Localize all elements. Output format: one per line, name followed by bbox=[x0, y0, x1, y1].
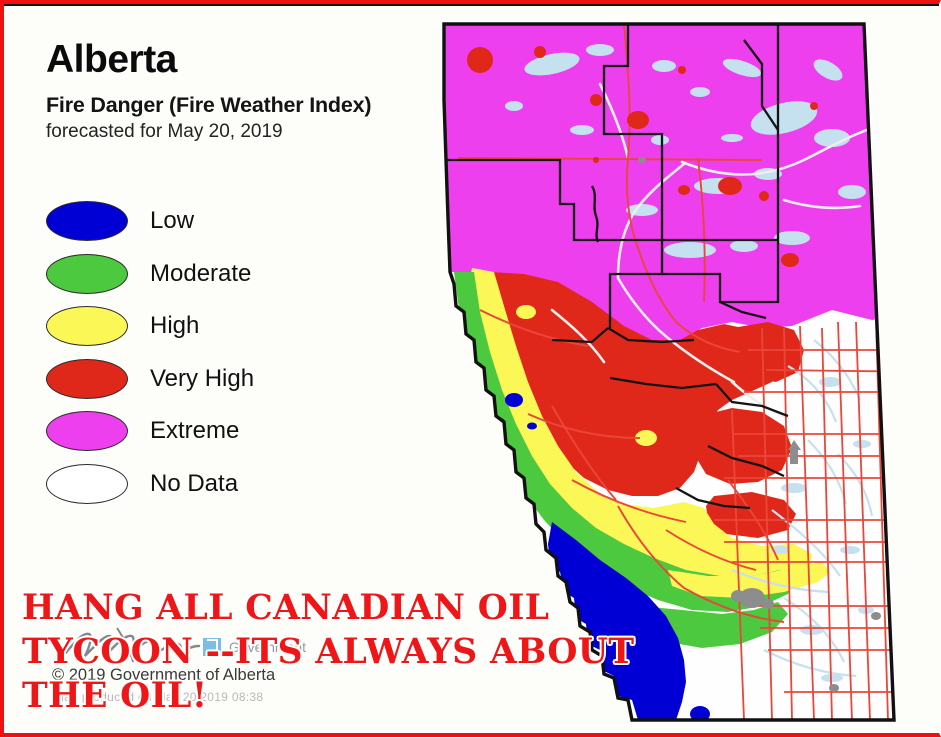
legend-item-no-data: No Data bbox=[46, 458, 254, 511]
alberta-fire-danger-map bbox=[432, 10, 937, 728]
legend-label-no-data: No Data bbox=[150, 470, 238, 498]
legend-item-high: High bbox=[46, 300, 254, 353]
legend-label-moderate: Moderate bbox=[150, 260, 251, 288]
legend-swatch-very-high bbox=[46, 359, 128, 399]
legend-item-very-high: Very High bbox=[46, 353, 254, 406]
map-produced-text: Map produced on May 20 2019 08:38 bbox=[54, 690, 263, 704]
legend-swatch-moderate bbox=[46, 254, 128, 294]
meme-image-canvas: Alberta Fire Danger (Fire Weather Index)… bbox=[0, 0, 941, 737]
fire-danger-legend: Low Moderate High Very High Extreme No D… bbox=[46, 195, 254, 510]
map-graphic bbox=[432, 10, 937, 728]
legend-label-extreme: Extreme bbox=[150, 417, 239, 445]
copyright-text: © 2019 Government of Alberta bbox=[52, 666, 275, 685]
legend-label-high: High bbox=[150, 312, 199, 340]
legend-swatch-low bbox=[46, 201, 128, 241]
legend-swatch-no-data bbox=[46, 464, 128, 504]
svg-text:Government: Government bbox=[229, 639, 306, 655]
legend-item-extreme: Extreme bbox=[46, 405, 254, 458]
legend-item-low: Low bbox=[46, 195, 254, 248]
legend-item-moderate: Moderate bbox=[46, 248, 254, 301]
legend-label-very-high: Very High bbox=[150, 365, 254, 393]
legend-swatch-extreme bbox=[46, 411, 128, 451]
legend-label-low: Low bbox=[150, 207, 194, 235]
alberta-government-logo: Government bbox=[59, 622, 309, 670]
legend-swatch-high bbox=[46, 306, 128, 346]
